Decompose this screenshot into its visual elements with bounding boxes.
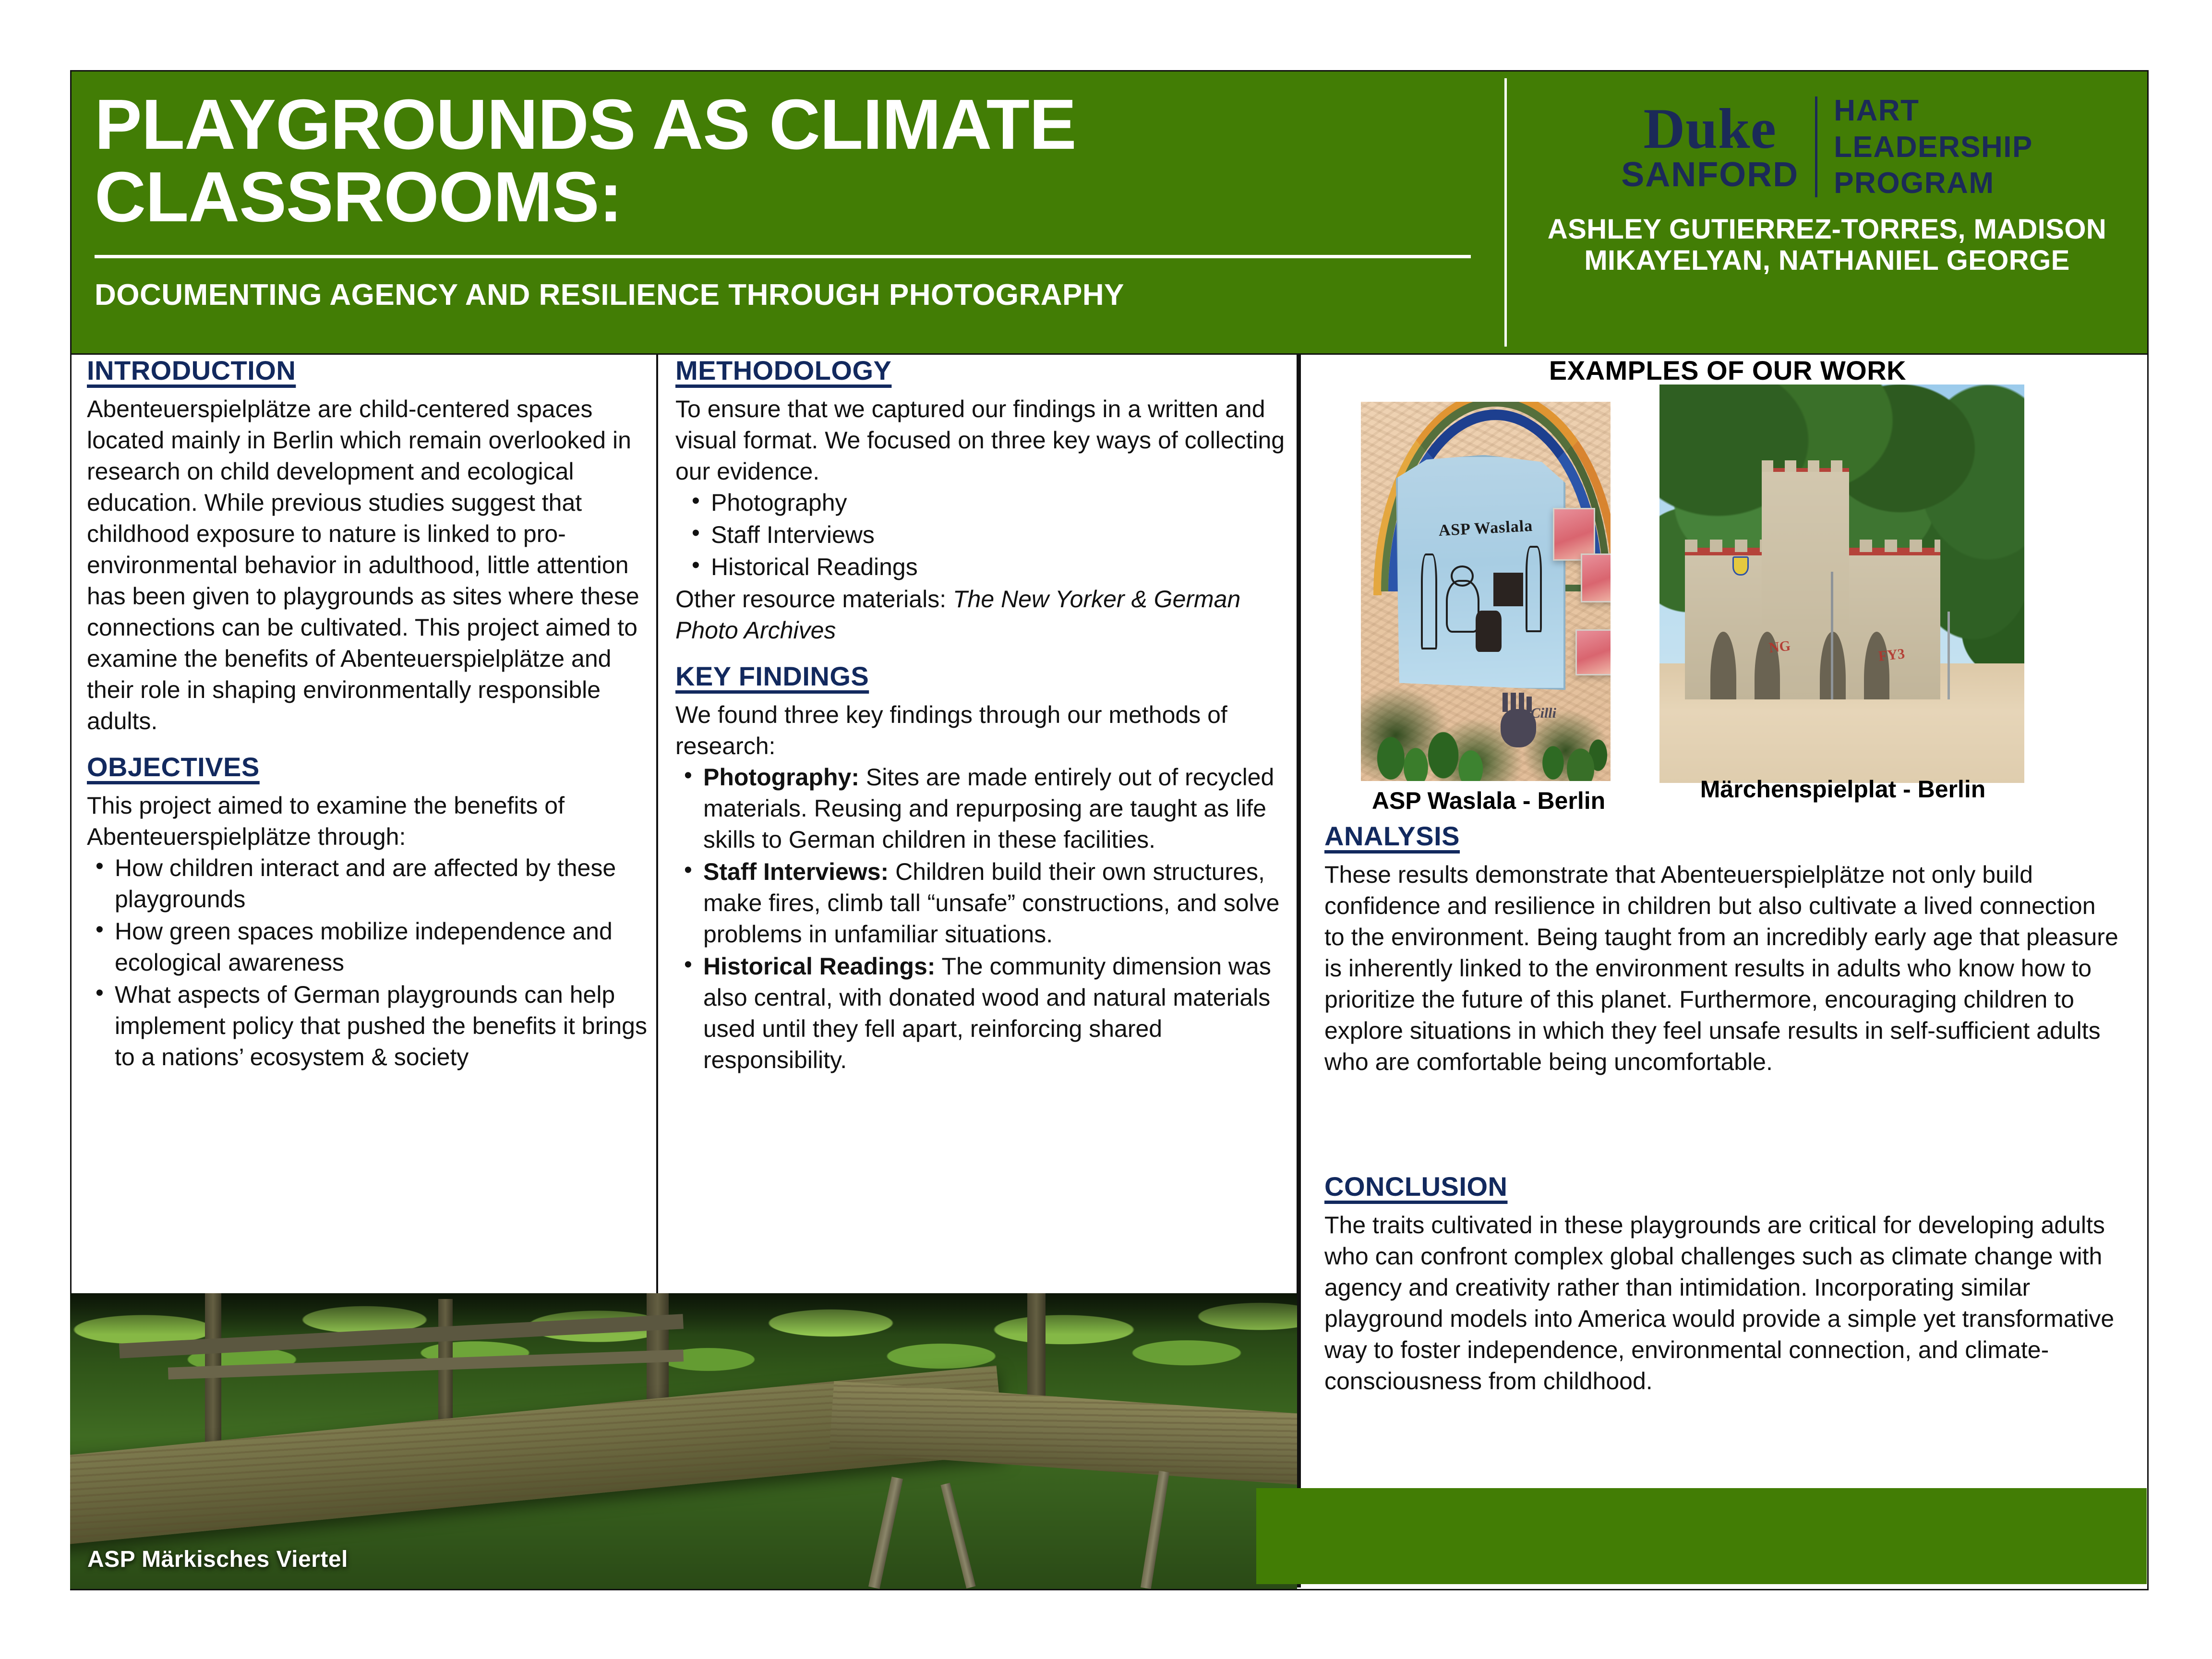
methodology-list: Photography Staff Interviews Historical …	[675, 487, 1295, 583]
hart-line-2: LEADERSHIP	[1834, 129, 2033, 166]
key-findings-intro: We found three key findings through our …	[675, 699, 1295, 762]
methodology-heading: METHODOLOGY	[675, 355, 891, 386]
drawn-post-right	[1526, 546, 1542, 632]
hart-line-1: HART	[1834, 93, 2033, 129]
methodology-resources: Other resource materials: The New Yorker…	[675, 584, 1295, 646]
list-item: Staff Interviews: Children build their o…	[675, 856, 1295, 950]
sanford-wordmark: SANFORD	[1621, 157, 1799, 192]
list-item: Photography: Sites are made entirely out…	[675, 762, 1295, 855]
pinned-photo-card-1	[1553, 508, 1595, 561]
duke-sanford-hart-logo: Duke SANFORD HART LEADERSHIP PROGRAM	[1621, 93, 2033, 202]
resources-prefix: Other resource materials:	[675, 586, 953, 613]
pinned-photo-card-3	[1575, 629, 1611, 675]
conclusion-body: The traits cultivated in these playgroun…	[1324, 1210, 2121, 1397]
section-key-findings: KEY FINDINGS We found three key findings…	[675, 661, 1295, 1076]
column-right: EXAMPLES OF OUR WORK ASP Waslala Cilli	[1320, 355, 2136, 397]
metal-pole-1	[1831, 572, 1833, 699]
conclusion-heading: CONCLUSION	[1324, 1171, 1507, 1202]
list-item: How green spaces mobilize independence a…	[87, 916, 653, 978]
duke-sanford-logo: Duke SANFORD	[1621, 102, 1799, 192]
column-middle: METHODOLOGY To ensure that we captured o…	[675, 355, 1295, 1090]
drawn-dog-figure	[1476, 611, 1502, 652]
objectives-heading: OBJECTIVES	[87, 751, 260, 782]
examples-heading: EXAMPLES OF OUR WORK	[1320, 355, 2136, 386]
methodology-intro: To ensure that we captured our findings …	[675, 394, 1295, 487]
photo-caption-maerchenspielplatz: Märchenspielplat - Berlin	[1651, 775, 2035, 803]
section-conclusion: CONCLUSION The traits cultivated in thes…	[1324, 1171, 2121, 1397]
poster-body: INTRODUCTION Abenteuerspielplätze are ch…	[70, 355, 2149, 1590]
section-objectives: OBJECTIVES This project aimed to examine…	[87, 751, 653, 1073]
header-logo-block: Duke SANFORD HART LEADERSHIP PROGRAM ASH…	[1507, 72, 2147, 353]
finding-lead: Historical Readings:	[703, 953, 935, 980]
column-divider-2	[1297, 355, 1301, 1587]
drawn-child-figure	[1446, 580, 1479, 633]
objectives-intro: This project aimed to examine the benefi…	[87, 790, 653, 853]
footer-green-bar	[1256, 1488, 2147, 1584]
page-title: PLAYGROUNDS AS CLIMATE CLASSROOMS:	[95, 89, 1481, 234]
list-item: What aspects of German playgrounds can h…	[87, 979, 653, 1073]
title-divider-rule	[95, 255, 1471, 258]
hart-line-3: PROGRAM	[1834, 165, 2033, 202]
drawn-dark-panel	[1493, 573, 1523, 606]
list-item: How children interact and are affected b…	[87, 853, 653, 915]
pinned-photo-card-2	[1581, 553, 1611, 602]
drawn-post-left	[1421, 553, 1437, 649]
photo-caption-waslala: ASP Waslala - Berlin	[1345, 787, 1633, 815]
introduction-heading: INTRODUCTION	[87, 355, 296, 386]
author-list: ASHLEY GUTIERREZ-TORRES, MADISON MIKAYEL…	[1507, 214, 2147, 276]
finding-lead: Staff Interviews:	[703, 858, 889, 885]
metal-pole-2	[1948, 612, 1950, 699]
analysis-body: These results demonstrate that Abenteuer…	[1324, 859, 2121, 1078]
bridge-strut-1	[868, 1477, 903, 1589]
page-subtitle: DOCUMENTING AGENCY AND RESILIENCE THROUG…	[95, 278, 1124, 312]
bridge-strut-2	[941, 1483, 976, 1588]
castle-crest-icon	[1732, 556, 1749, 576]
column-divider-1	[656, 355, 658, 1293]
list-item: Photography	[675, 487, 1295, 518]
introduction-body: Abenteuerspielplätze are child-centered …	[87, 394, 653, 737]
bridge-strut-3	[1141, 1470, 1169, 1589]
poster-root: PLAYGROUNDS AS CLIMATE CLASSROOMS: DOCUM…	[0, 0, 2212, 1659]
shadow-overlay-top	[70, 1293, 1297, 1334]
section-methodology: METHODOLOGY To ensure that we captured o…	[675, 355, 1295, 646]
photo-caption-maerkisches-viertel: ASP Märkisches Viertel	[87, 1546, 348, 1573]
header-title-block: PLAYGROUNDS AS CLIMATE CLASSROOMS: DOCUM…	[72, 72, 1504, 353]
list-item: Historical Readings	[675, 552, 1295, 583]
list-item: Historical Readings: The community dimen…	[675, 951, 1295, 1076]
hart-leadership-program-logo: HART LEADERSHIP PROGRAM	[1834, 93, 2033, 202]
logo-separator-bar	[1815, 96, 1817, 197]
photo-asp-waslala: ASP Waslala Cilli	[1361, 402, 1611, 781]
column-left: INTRODUCTION Abenteuerspielplätze are ch…	[87, 355, 653, 1087]
photo-maerchenspielplatz: NG FY3	[1659, 385, 2024, 783]
analysis-heading: ANALYSIS	[1324, 820, 1460, 852]
foreground-plants	[1361, 705, 1611, 781]
duke-wordmark: Duke	[1643, 102, 1776, 155]
key-findings-heading: KEY FINDINGS	[675, 661, 869, 692]
graffiti-mark-2: FY3	[1877, 646, 1905, 665]
list-item: Staff Interviews	[675, 519, 1295, 551]
objectives-list: How children interact and are affected b…	[87, 853, 653, 1073]
photo-asp-maerkisches-viertel: ASP Märkisches Viertel	[70, 1293, 1297, 1589]
graffiti-mark-1: NG	[1768, 638, 1791, 657]
poster-header: PLAYGROUNDS AS CLIMATE CLASSROOMS: DOCUM…	[70, 70, 2149, 355]
key-findings-list: Photography: Sites are made entirely out…	[675, 762, 1295, 1076]
finding-lead: Photography:	[703, 764, 859, 791]
section-analysis: ANALYSIS These results demonstrate that …	[1324, 820, 2121, 1078]
section-introduction: INTRODUCTION Abenteuerspielplätze are ch…	[87, 355, 653, 737]
